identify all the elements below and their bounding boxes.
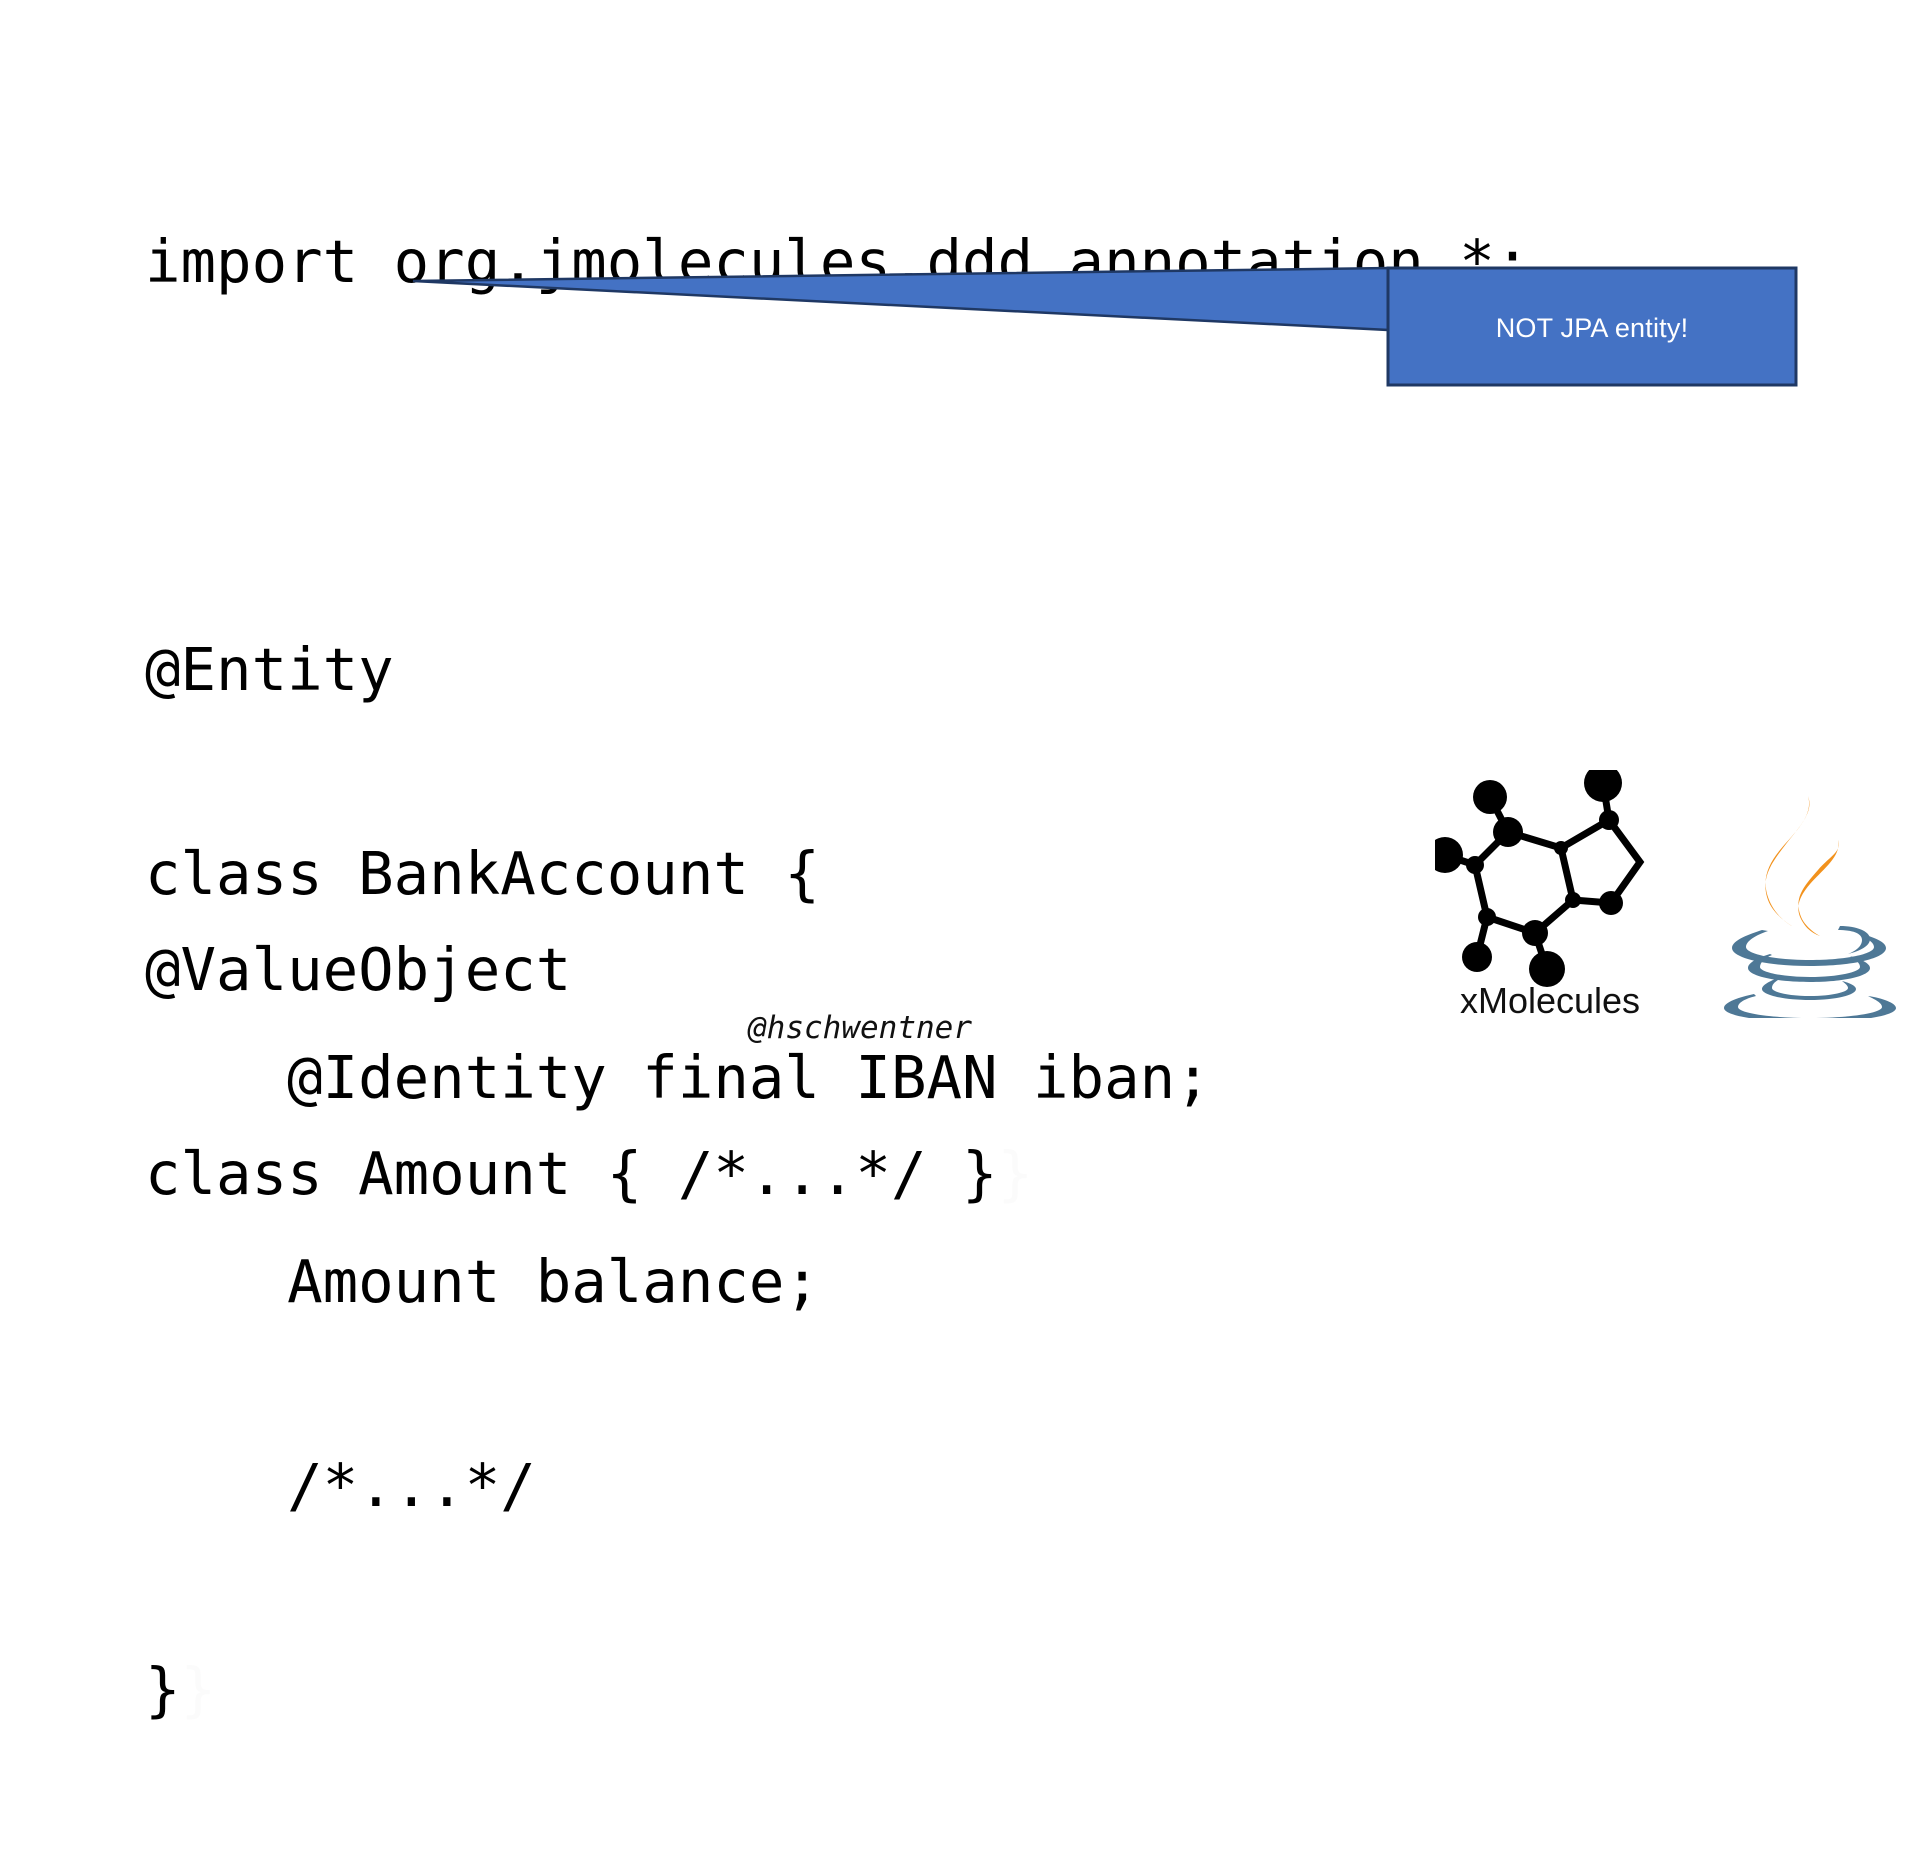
code-line-body-comment: /*...*/	[145, 1452, 1530, 1520]
code-line-closing-brace: }}	[145, 1656, 1530, 1724]
xmolecules-logo-icon	[1435, 770, 1665, 1000]
code-line-blank	[145, 432, 1530, 500]
code-line-class-amount: class Amount { /*...*/ }}	[145, 1140, 1033, 1208]
closing-brace: }	[145, 1655, 181, 1724]
author-handle-text: @hschwentner	[748, 1010, 972, 1046]
java-steam	[1765, 796, 1838, 936]
slide-canvas: import org.jmolecules.ddd.annotation.*; …	[0, 0, 1920, 1080]
java-logo-icon	[1710, 778, 1910, 1018]
code-line-import: import org.jmolecules.ddd.annotation.*;	[145, 228, 1530, 296]
code-line-entity-annotation: @Entity	[145, 636, 1530, 704]
author-handle: @hschwentner	[0, 1010, 1920, 1046]
ghost-closing-brace-2: }	[998, 1139, 1034, 1208]
code-line-valueobject-annotation: @ValueObject	[145, 936, 1033, 1004]
callout-label: NOT JPA entity!	[1388, 268, 1796, 385]
java-cup	[1724, 926, 1896, 1018]
class-amount-text: class Amount { /*...*/ }	[145, 1139, 998, 1208]
molecule-atoms	[1435, 770, 1623, 987]
code-snippet-secondary: @ValueObject class Amount { /*...*/ }}	[145, 800, 1033, 1344]
ghost-closing-brace: }	[181, 1655, 217, 1724]
